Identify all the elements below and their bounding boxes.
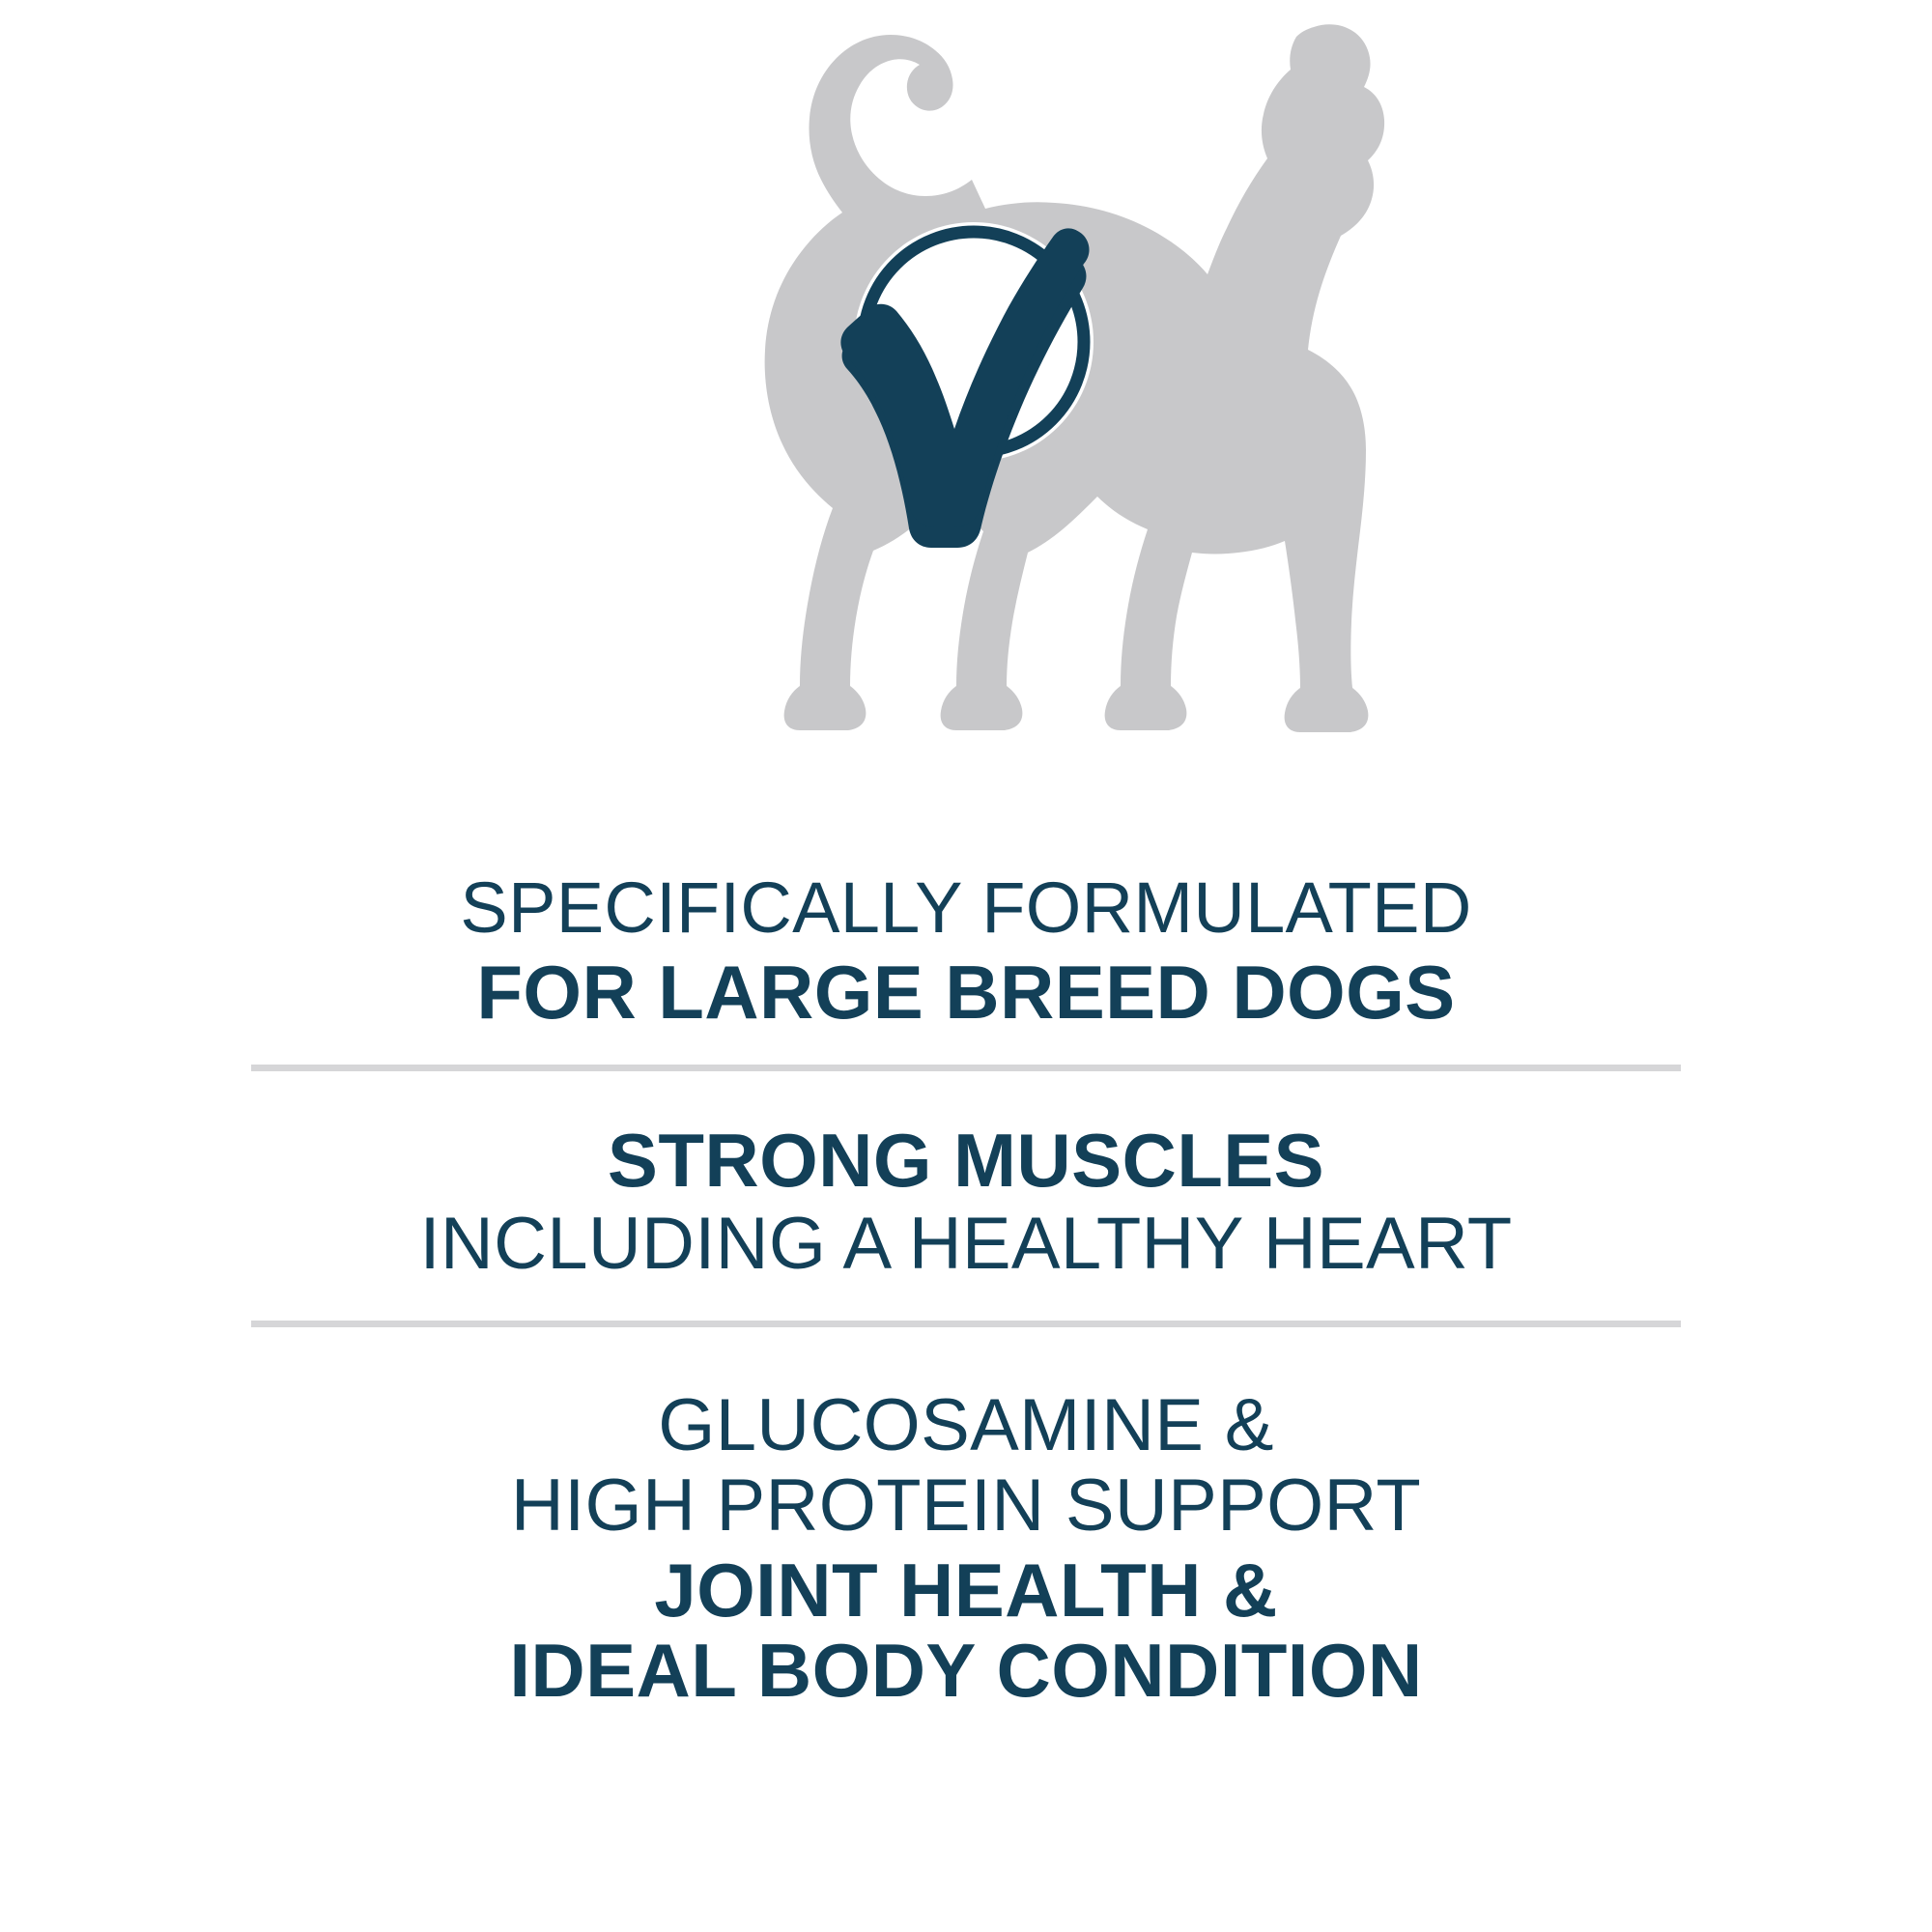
benefit-section-strong-muscles: STRONG MUSCLES INCLUDING A HEALTHY HEART <box>251 1071 1681 1321</box>
product-benefits-infographic: SPECIFICALLY FORMULATED FOR LARGE BREED … <box>0 0 1932 1932</box>
benefit-line: GLUCOSAMINE & <box>658 1387 1273 1463</box>
benefit-line: FOR LARGE BREED DOGS <box>476 953 1455 1032</box>
benefit-line: SPECIFICALLY FORMULATED <box>460 871 1471 946</box>
benefit-line: IDEAL BODY CONDITION <box>509 1632 1422 1710</box>
benefit-line: STRONG MUSCLES <box>608 1122 1324 1200</box>
benefits-content: SPECIFICALLY FORMULATED FOR LARGE BREED … <box>251 860 1681 1719</box>
benefit-section-specifically-formulated: SPECIFICALLY FORMULATED FOR LARGE BREED … <box>251 860 1681 1065</box>
benefit-line: INCLUDING A HEALTHY HEART <box>419 1206 1512 1282</box>
section-divider <box>251 1065 1681 1071</box>
benefit-line: HIGH PROTEIN SUPPORT <box>511 1467 1421 1544</box>
section-divider <box>251 1321 1681 1327</box>
benefit-line: JOINT HEALTH & <box>654 1551 1277 1630</box>
dog-silhouette-with-check-badge <box>483 0 1449 860</box>
benefit-section-glucosamine-protein: GLUCOSAMINE & HIGH PROTEIN SUPPORT JOINT… <box>251 1327 1681 1719</box>
hero-illustration <box>0 0 1932 860</box>
